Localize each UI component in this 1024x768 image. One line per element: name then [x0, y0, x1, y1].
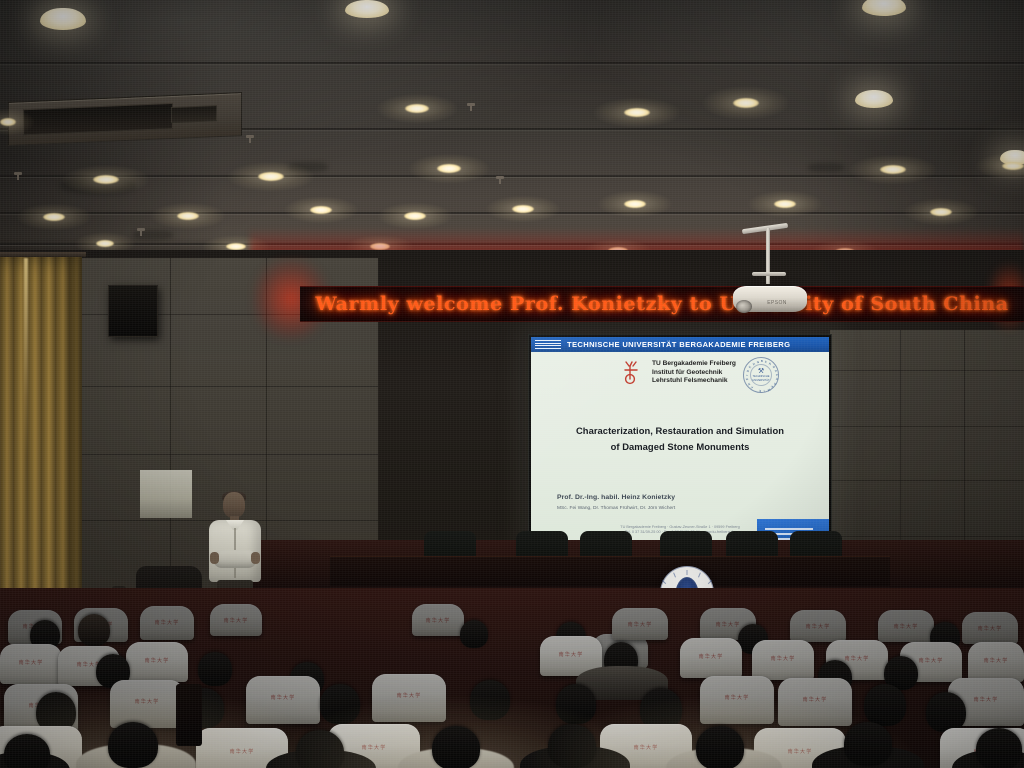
downlight	[733, 98, 759, 108]
audience-head	[108, 722, 158, 768]
ceiling-panel-patch	[808, 163, 844, 172]
institute-line-1: TU Bergakademie Freiberg	[652, 360, 736, 369]
audience-seat: 南华大学	[752, 640, 814, 680]
audience-head	[556, 684, 596, 724]
downlight	[624, 108, 650, 117]
audience-seat: 南华大学	[778, 678, 852, 726]
seat-logo: 南华大学	[155, 619, 180, 626]
ac-grille	[23, 103, 173, 135]
ac-vent	[171, 105, 217, 123]
audience-head	[460, 620, 488, 648]
sprinkler-head-icon	[467, 103, 475, 106]
downlight	[93, 175, 119, 184]
projector-lens-icon	[736, 300, 752, 313]
speaker-hand	[251, 552, 260, 564]
seat-logo: 南华大学	[974, 696, 999, 703]
seat-logo: 南华大学	[559, 651, 584, 658]
seat-logo: 南华大学	[716, 621, 741, 628]
seat-logo: 南华大学	[397, 692, 422, 699]
wall-loudspeaker	[108, 285, 158, 337]
curtain-rod	[0, 252, 86, 257]
audience-head	[320, 684, 360, 724]
institute-line-3: Lehrstuhl Felsmechanik	[652, 377, 736, 386]
audience-head	[548, 724, 596, 768]
ceiling-panel-patch	[133, 230, 173, 240]
wall-light-panel	[140, 470, 192, 518]
seat-logo: 南华大学	[224, 617, 249, 624]
downlight	[226, 243, 246, 250]
downlight	[774, 200, 796, 208]
projector-brand-label: EPSON	[766, 300, 788, 306]
seat-logo: 南华大学	[19, 659, 44, 666]
audience-head	[926, 692, 966, 732]
seat-logo: 南华大学	[628, 621, 653, 628]
audience-head	[296, 730, 344, 768]
seat-logo: 南华大学	[634, 744, 659, 751]
downlight	[310, 206, 332, 214]
downlight	[405, 104, 429, 113]
ceiling-light-fixture	[862, 0, 906, 16]
speaker-hand	[210, 552, 219, 564]
stage-table	[330, 556, 890, 586]
slide-title-line-1: Characterization, Restauration and Simul…	[541, 423, 819, 439]
downlight	[437, 164, 461, 173]
audience-seat: 南华大学	[680, 638, 742, 678]
auditorium-floor: 南华大学 南华大学 南华大学 南华大学 南华大学 南华大学 南华大学 南华大学 …	[0, 588, 1024, 768]
seat-logo: 南华大学	[984, 657, 1009, 664]
slide-author: Prof. Dr.-Ing. habil. Heinz Konietzky	[557, 494, 675, 501]
lecture-hall-scene: Warmly welcome Prof. Konietzky to Univer…	[0, 0, 1024, 768]
audience-seat: 南华大学	[612, 608, 668, 640]
downlight	[0, 118, 16, 126]
downlight	[880, 165, 906, 174]
audience-seat: 南华大学	[210, 604, 262, 636]
seat-logo: 南华大学	[135, 698, 160, 705]
audience-seat: 南华大学	[878, 610, 934, 642]
sprinkler-head-icon	[496, 176, 504, 179]
ceiling-light-fixture	[345, 0, 389, 18]
downlight	[404, 212, 426, 220]
institute-line-2: Institut für Geotechnik	[652, 369, 736, 378]
university-seal-icon: ⚒ TECHNISCHE UNIVERSITÄT BERGAKADEMIE FR…	[743, 357, 779, 393]
sprinkler-head-icon	[246, 135, 254, 138]
audience-seat: 南华大学	[700, 676, 774, 724]
ceiling-panel-patch	[288, 162, 328, 172]
seat-logo: 南华大学	[894, 623, 919, 630]
ceiling-light-fixture	[40, 8, 86, 30]
seal-ring-text: BERGAKADEMIE FREIBERG	[744, 358, 778, 392]
seat-logo: 南华大学	[426, 617, 451, 624]
emblem-ray	[687, 570, 688, 575]
ceiling-seam	[0, 62, 1024, 64]
downlight	[512, 205, 534, 213]
audience-seat: 南华大学	[968, 642, 1024, 682]
audience-head	[864, 684, 906, 726]
ceiling-light-fixture	[855, 90, 893, 108]
tu-bergakademie-logo-icon	[623, 359, 645, 385]
emblem-ray	[673, 573, 676, 578]
audience-seat: 南华大学	[126, 642, 188, 682]
seat-logo: 南华大学	[845, 655, 870, 662]
downlight	[624, 200, 646, 208]
tu-stripes-icon	[535, 340, 561, 349]
seat-logo: 南华大学	[978, 625, 1003, 632]
audience-head	[4, 734, 50, 768]
downlight	[43, 213, 65, 221]
audience-seat: 南华大学	[140, 606, 194, 640]
audience-head	[976, 728, 1022, 768]
audience-head	[844, 722, 892, 766]
emblem-ray	[662, 580, 666, 584]
seat-logo: 南华大学	[803, 696, 828, 703]
institute-lines: TU Bergakademie Freiberg Institut für Ge…	[652, 359, 736, 386]
sprinkler-head-icon	[137, 228, 145, 231]
led-welcome-banner: Warmly welcome Prof. Konietzky to Univer…	[300, 286, 1024, 322]
downlight	[258, 172, 284, 181]
projection-screen: TECHNISCHE UNIVERSITÄT BERGAKADEMIE FREI…	[528, 334, 832, 548]
slide-title-line-2: of Damaged Stone Monuments	[541, 439, 819, 455]
downlight	[177, 212, 199, 220]
institute-logo-row: TU Bergakademie Freiberg Institut für Ge…	[623, 359, 823, 395]
slide-title: Characterization, Restauration and Simul…	[541, 423, 819, 455]
seat-logo: 南华大学	[230, 748, 255, 755]
aisle-shadow	[176, 684, 202, 746]
slide-coauthors: MSc. Fei Wang, Dr. Thomas Frühwirt, Dr. …	[557, 506, 675, 511]
audience-seat: 南华大学	[246, 676, 320, 724]
curtain-highlight	[24, 258, 28, 458]
speaker-head	[223, 492, 245, 518]
ceiling	[0, 0, 1024, 258]
audience-seat: 南华大学	[372, 674, 446, 722]
audience-seat: 南华大学	[412, 604, 464, 636]
ceiling-seam	[0, 212, 1024, 214]
led-banner-text: Warmly welcome Prof. Konietzky to Univer…	[315, 293, 1008, 315]
seat-logo: 南华大学	[725, 694, 750, 701]
audience-seat: 南华大学	[0, 644, 62, 684]
seat-logo: 南华大学	[771, 655, 796, 662]
seat-logo: 南华大学	[919, 657, 944, 664]
audience-head	[470, 680, 510, 720]
audience-head	[78, 614, 110, 646]
seat-logo: 南华大学	[362, 744, 387, 751]
seat-logo: 南华大学	[788, 748, 813, 755]
emblem-ray	[698, 573, 701, 578]
sprinkler-head-icon	[14, 172, 22, 175]
emblem-ray	[708, 580, 712, 584]
audience-head	[696, 726, 744, 768]
projector-mount-arm	[752, 272, 786, 276]
audience-seat: 南华大学	[790, 610, 846, 642]
audience-seat: 南华大学	[110, 680, 184, 728]
downlight	[930, 208, 952, 216]
slide-header-title: TECHNISCHE UNIVERSITÄT BERGAKADEMIE FREI…	[567, 340, 790, 349]
seat-logo: 南华大学	[271, 694, 296, 701]
seat-logo: 南华大学	[806, 623, 831, 630]
slide-header-bar: TECHNISCHE UNIVERSITÄT BERGAKADEMIE FREI…	[531, 337, 829, 352]
downlight	[1002, 162, 1024, 170]
audience-head	[432, 726, 480, 768]
presentation-slide: TECHNISCHE UNIVERSITÄT BERGAKADEMIE FREI…	[531, 337, 829, 545]
audience-seat: 南华大学	[962, 612, 1018, 644]
downlight	[96, 240, 114, 247]
ceiling-seam	[0, 175, 1024, 177]
audience-head	[198, 652, 232, 686]
seat-logo: 南华大学	[145, 657, 170, 664]
seat-logo: 南华大学	[699, 653, 724, 660]
